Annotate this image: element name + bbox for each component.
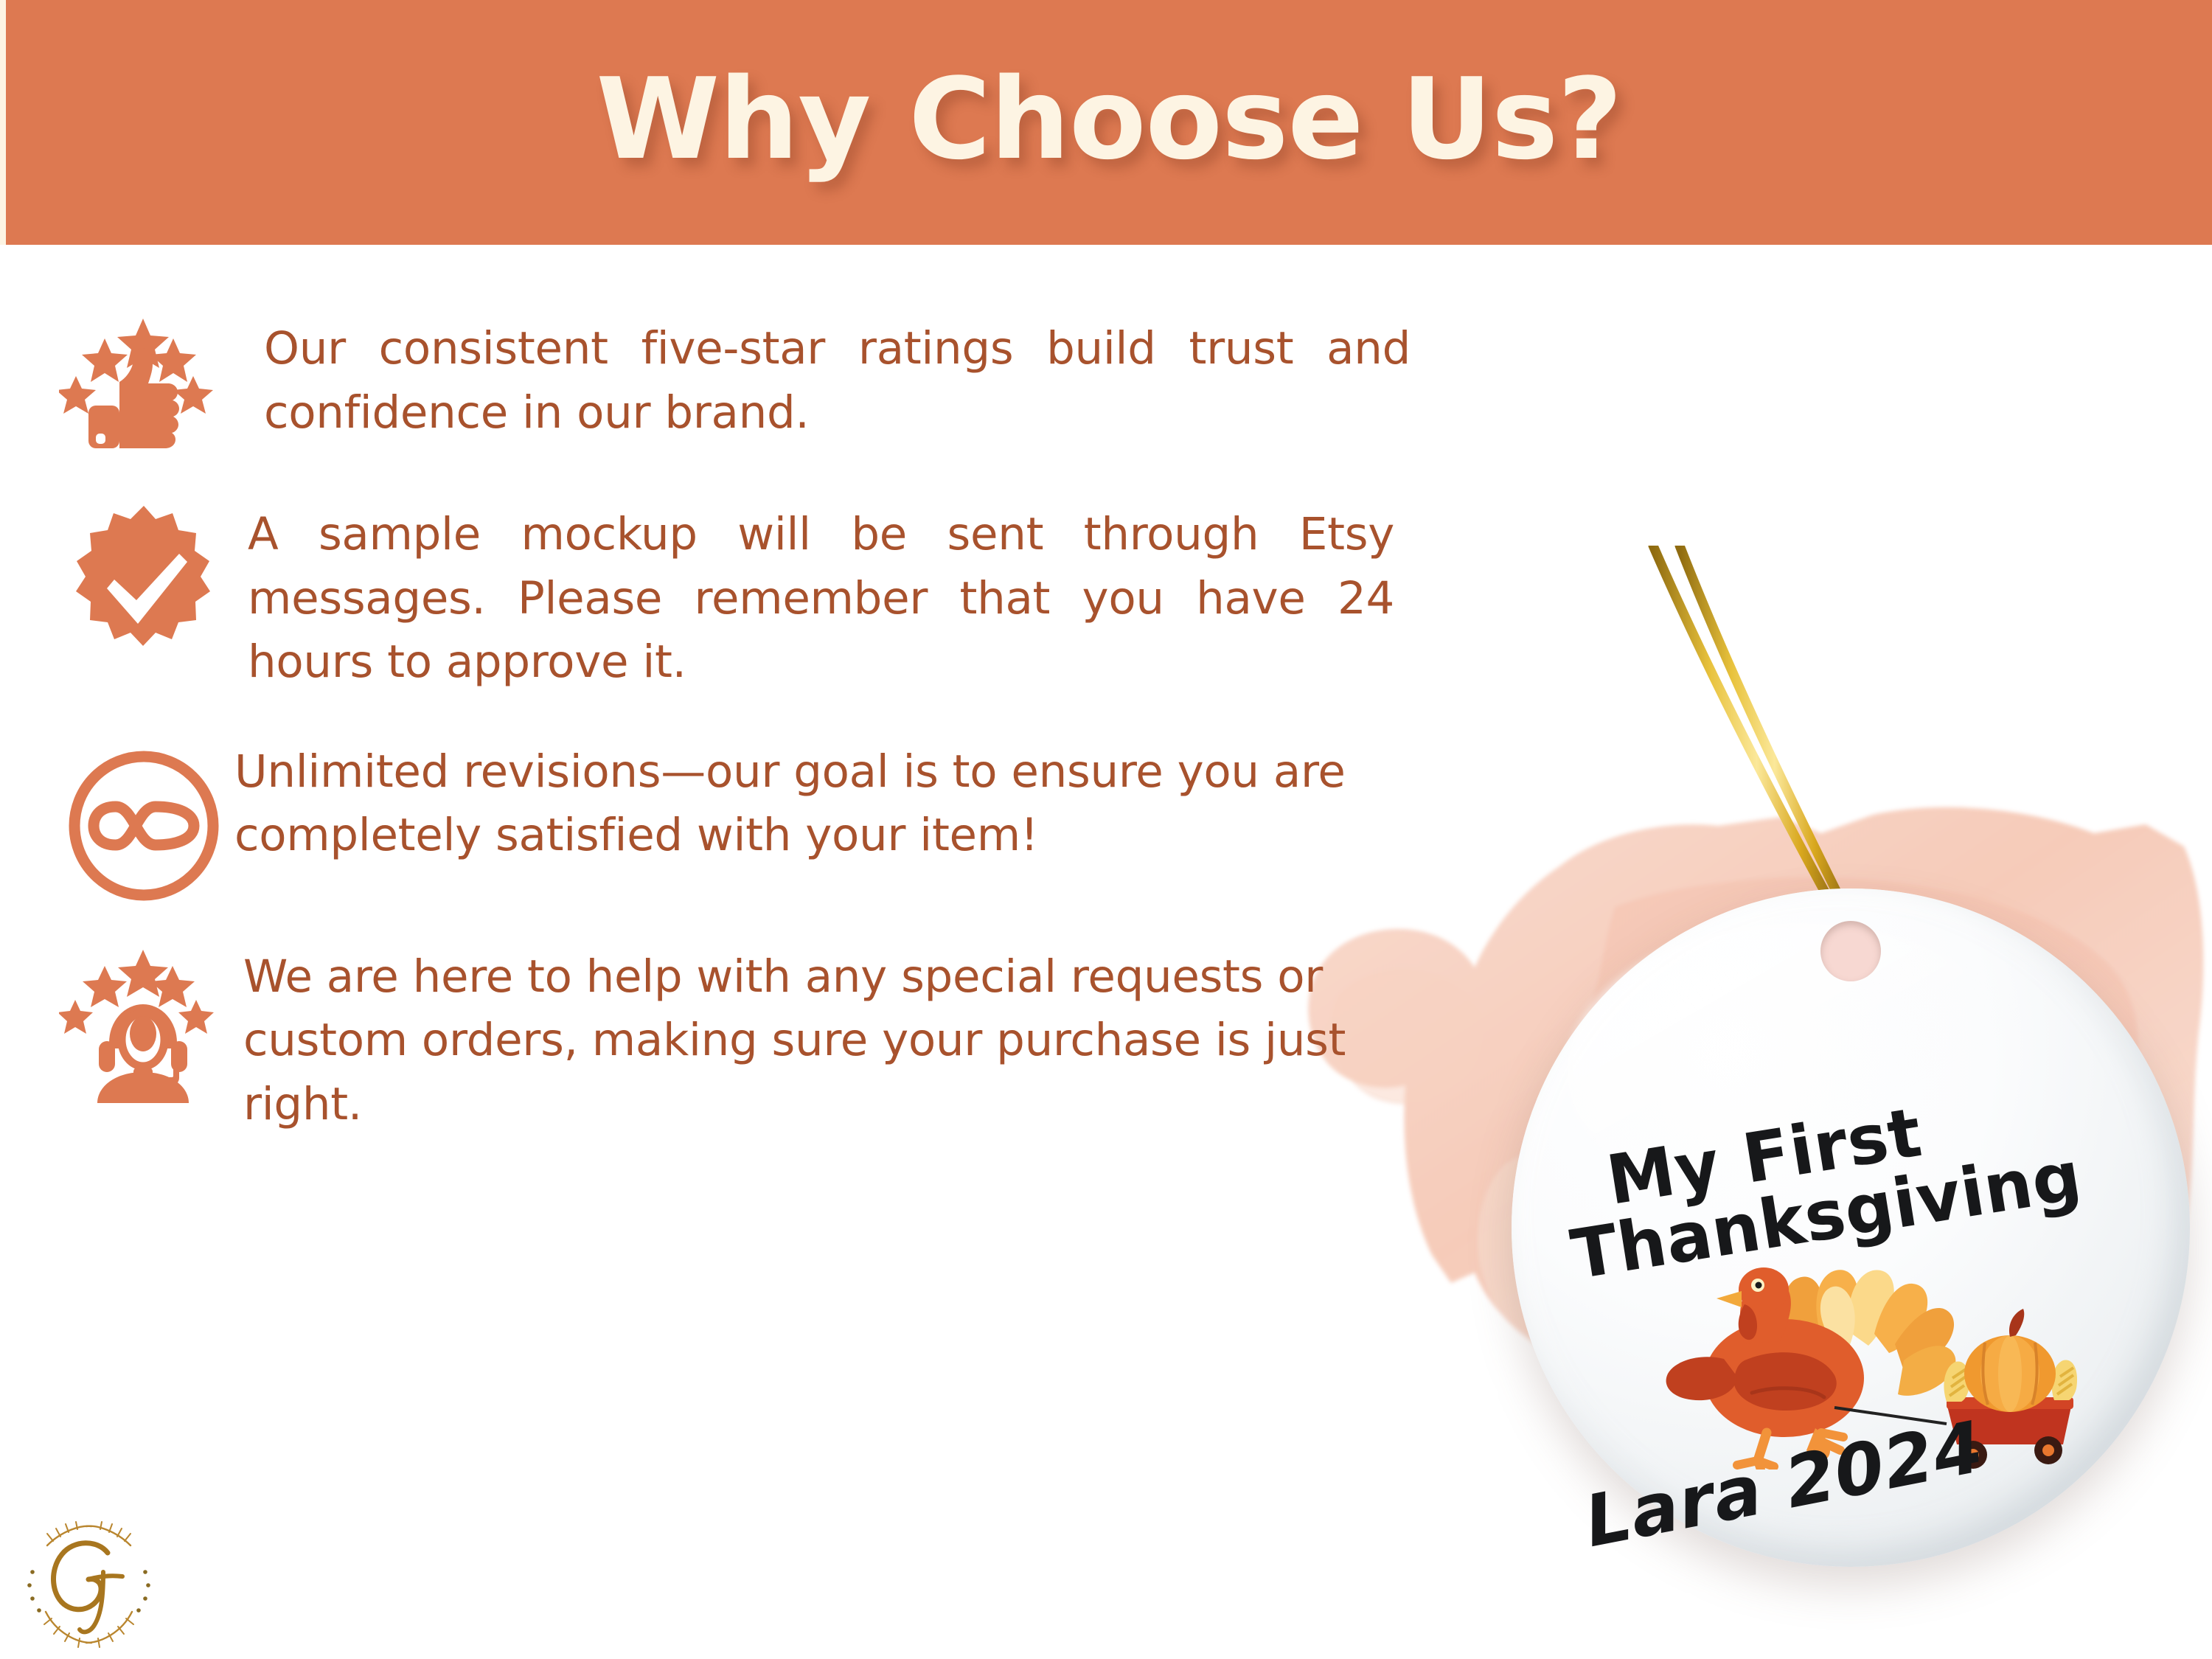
product-image: My First Thanksgiving	[1489, 546, 2197, 1526]
page-header: Why Choose Us?	[6, 0, 2212, 245]
list-item: A sample mockup will be sent through Ets…	[59, 503, 1460, 695]
list-item-text: Unlimited revisions—our goal is to ensur…	[234, 740, 1392, 868]
verified-check-badge-icon	[59, 503, 229, 671]
benefits-list: Our consistent five-star ratings build t…	[59, 317, 1460, 1194]
page-title: Why Choose Us?	[596, 63, 1621, 175]
ornament-artwork: My First Thanksgiving	[1512, 888, 2190, 1567]
list-item: We are here to help with any special req…	[59, 945, 1460, 1137]
list-item: Our consistent five-star ratings build t…	[59, 317, 1460, 451]
list-item-text: Our consistent five-star ratings build t…	[264, 317, 1411, 445]
list-item: Unlimited revisions—our goal is to ensur…	[59, 740, 1460, 904]
list-item-text: We are here to help with any special req…	[243, 945, 1390, 1137]
list-item-text: A sample mockup will be sent through Ets…	[248, 503, 1394, 695]
left-edge-strip	[0, 0, 6, 245]
five-star-thumbs-up-icon	[59, 317, 229, 451]
customer-support-agent-stars-icon	[59, 945, 229, 1103]
brand-logo	[21, 1520, 157, 1653]
ceramic-ornament-disc: My First Thanksgiving	[1512, 888, 2190, 1567]
infinity-circle-icon	[59, 740, 229, 904]
